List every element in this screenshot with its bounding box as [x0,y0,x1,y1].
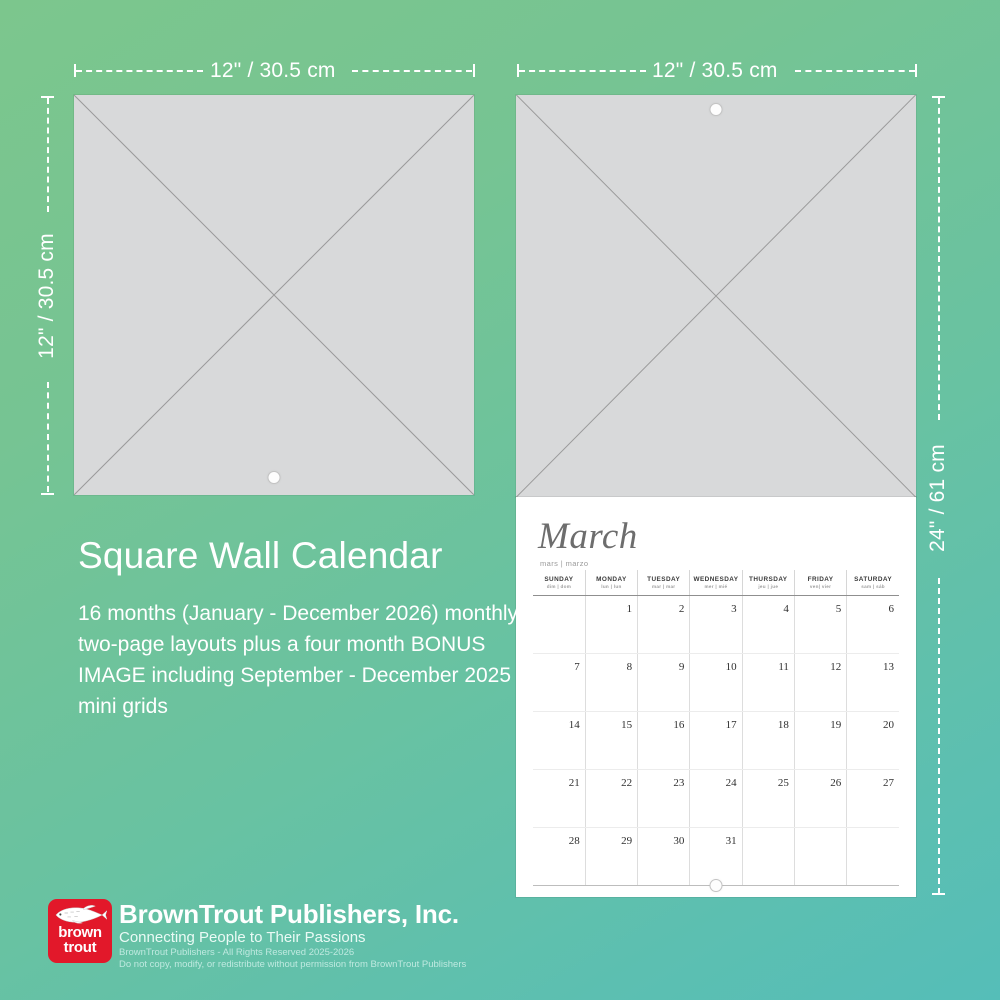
dim-dash-left [76,70,203,72]
calendar-day-cell[interactable]: 1 [585,596,637,654]
dim-label-right-height: 24" / 61 cm [926,444,950,552]
day-number: 1 [627,603,633,615]
calendar-day-cell[interactable]: 29 [585,828,637,886]
weekday-name: MONDAY [586,576,637,583]
calendar-day-cell[interactable] [794,828,846,886]
weekday-header-monday: MONDAY lun | lun [585,570,637,596]
weekday-alt: ven| vier [795,584,846,589]
day-number: 28 [569,835,580,847]
calendar-day-cell[interactable]: 16 [638,712,690,770]
weekday-header-friday: FRIDAY ven| vier [794,570,846,596]
day-number: 3 [731,603,737,615]
calendar-day-cell[interactable]: 2 [638,596,690,654]
dim-dash-bottom [47,382,49,492]
calendar-day-cell[interactable]: 11 [742,654,794,712]
calendar-day-cell[interactable]: 7 [533,654,585,712]
dim-cap-bottom [41,493,54,495]
day-number: 23 [673,777,684,789]
weekday-header-saturday: SATURDAY sam | sáb [847,570,899,596]
placeholder-diagonal-2 [74,95,474,495]
day-number: 7 [574,661,580,673]
weekday-name: SATURDAY [847,576,899,583]
browntrout-logo: brown trout [48,899,112,963]
dim-dash-top [47,98,49,212]
dim-cap-bottom [932,893,945,895]
calendar-day-cell[interactable]: 24 [690,770,742,828]
placeholder-diagonal-2 [516,95,916,497]
weekday-name: WEDNESDAY [690,576,741,583]
dim-dash-right [795,70,915,72]
day-number: 5 [836,603,842,615]
weekday-alt: sam | sáb [847,584,899,589]
calendar-day-cell[interactable]: 21 [533,770,585,828]
day-number: 20 [883,719,894,731]
day-number: 31 [726,835,737,847]
calendar-day-cell[interactable]: 13 [847,654,899,712]
calendar-day-cell[interactable] [742,828,794,886]
day-number: 6 [889,603,895,615]
calendar-day-cell[interactable]: 17 [690,712,742,770]
weekday-name: FRIDAY [795,576,846,583]
day-number: 22 [621,777,632,789]
calendar-day-cell[interactable]: 3 [690,596,742,654]
calendar-cover-panel [74,95,474,495]
calendar-day-cell[interactable]: 10 [690,654,742,712]
page-title: Square Wall Calendar [78,535,443,577]
logo-word-brown: brown [58,925,102,940]
logo-word-trout: trout [64,940,97,955]
dim-label-top-right: 12" / 30.5 cm [652,59,778,83]
calendar-header-row: SUNDAY dim | dom MONDAY lun | lun TUESDA… [533,570,899,596]
weekday-alt: mar | mar [638,584,689,589]
calendar-day-cell[interactable]: 30 [638,828,690,886]
weekday-header-tuesday: TUESDAY mar | mar [638,570,690,596]
calendar-week-row: 14 15 16 17 18 19 20 [533,712,899,770]
calendar-day-cell[interactable]: 9 [638,654,690,712]
calendar-day-cell[interactable]: 8 [585,654,637,712]
calendar-week-row: 1 2 3 4 5 6 [533,596,899,654]
calendar-image-panel [516,95,916,497]
punch-hole-icon [711,104,722,115]
product-description: 16 months (January - December 2026) mont… [78,598,523,722]
calendar-day-cell[interactable]: 31 [690,828,742,886]
product-mockup-canvas: 12" / 30.5 cm 12" / 30.5 cm 12" / 30.5 c… [0,0,1000,1000]
dim-label-left-height: 12" / 30.5 cm [35,233,59,359]
day-number: 2 [679,603,685,615]
day-number: 13 [883,661,894,673]
calendar-day-cell[interactable]: 26 [794,770,846,828]
dim-dash-top [938,98,940,420]
calendar-day-cell[interactable]: 19 [794,712,846,770]
dim-label-top-left: 12" / 30.5 cm [210,59,336,83]
day-number: 8 [627,661,633,673]
calendar-table: SUNDAY dim | dom MONDAY lun | lun TUESDA… [533,570,899,886]
calendar-day-cell[interactable]: 22 [585,770,637,828]
day-number: 14 [569,719,580,731]
day-number: 27 [883,777,894,789]
copyright-notice: BrownTrout Publishers - All Rights Reser… [119,947,466,971]
weekday-header-thursday: THURSDAY jeu | jue [742,570,794,596]
day-number: 29 [621,835,632,847]
calendar-day-cell[interactable]: 23 [638,770,690,828]
copyright-line-2: Do not copy, modify, or redistribute wit… [119,959,466,971]
day-number: 21 [569,777,580,789]
calendar-month-title: March [538,515,638,558]
calendar-day-cell[interactable]: 4 [742,596,794,654]
calendar-week-row: 28 29 30 31 [533,828,899,886]
calendar-day-cell[interactable] [533,596,585,654]
calendar-day-cell[interactable]: 12 [794,654,846,712]
calendar-day-cell[interactable]: 20 [847,712,899,770]
calendar-day-cell[interactable]: 27 [847,770,899,828]
dim-dash-left [519,70,646,72]
dim-cap-right [473,64,475,77]
calendar-day-cell[interactable] [847,828,899,886]
calendar-day-cell[interactable]: 18 [742,712,794,770]
calendar-month-subtitle: mars | marzo [540,559,588,568]
punch-hole-icon [269,472,280,483]
calendar-day-cell[interactable]: 25 [742,770,794,828]
publisher-tagline: Connecting People to Their Passions [119,929,366,946]
weekday-alt: jeu | jue [743,584,794,589]
calendar-day-cell[interactable]: 5 [794,596,846,654]
weekday-name: TUESDAY [638,576,689,583]
weekday-header-wednesday: WEDNESDAY mer | mié [690,570,742,596]
day-number: 17 [726,719,737,731]
calendar-day-cell[interactable]: 28 [533,828,585,886]
day-number: 10 [726,661,737,673]
day-number: 18 [778,719,789,731]
calendar-day-cell[interactable]: 6 [847,596,899,654]
copyright-line-1: BrownTrout Publishers - All Rights Reser… [119,947,466,959]
dim-dash-right [352,70,472,72]
weekday-header-sunday: SUNDAY dim | dom [533,570,585,596]
calendar-grid: SUNDAY dim | dom MONDAY lun | lun TUESDA… [533,570,899,875]
day-number: 15 [621,719,632,731]
punch-hole-icon [711,880,722,891]
day-number: 19 [830,719,841,731]
weekday-alt: mer | mié [690,584,741,589]
day-number: 4 [783,603,789,615]
weekday-name: THURSDAY [743,576,794,583]
calendar-grid-panel: March mars | marzo SUNDAY dim | dom MOND… [516,497,916,897]
trout-fish-icon [53,903,107,925]
day-number: 26 [830,777,841,789]
calendar-week-row: 7 8 9 10 11 12 13 [533,654,899,712]
weekday-alt: lun | lun [586,584,637,589]
dim-dash-bottom [938,578,940,894]
weekday-alt: dim | dom [533,584,585,589]
dim-cap-right [915,64,917,77]
calendar-body: 1 2 3 4 5 6 7 8 9 10 11 12 13 [533,596,899,886]
day-number: 24 [726,777,737,789]
calendar-week-row: 21 22 23 24 25 26 27 [533,770,899,828]
day-number: 16 [673,719,684,731]
calendar-day-cell[interactable]: 14 [533,712,585,770]
calendar-day-cell[interactable]: 15 [585,712,637,770]
weekday-name: SUNDAY [533,576,585,583]
day-number: 11 [778,661,789,673]
day-number: 9 [679,661,685,673]
publisher-name: BrownTrout Publishers, Inc. [119,899,459,930]
day-number: 30 [673,835,684,847]
day-number: 12 [830,661,841,673]
day-number: 25 [778,777,789,789]
